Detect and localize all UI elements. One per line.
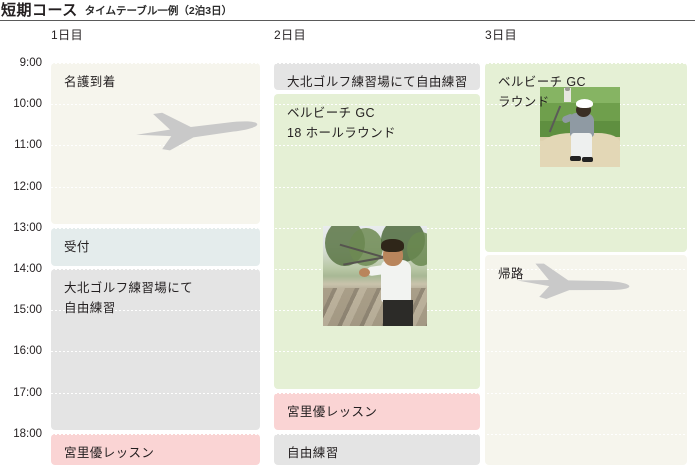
event-block[interactable]: 宮里優レッスン [274, 393, 480, 431]
day-header-2: 2日目 [274, 26, 306, 43]
day-header-3: 3日目 [485, 26, 517, 43]
golf-swing-photo [323, 226, 427, 326]
event-block[interactable]: ベルビーチ GC 18 ホールラウンド [274, 94, 480, 389]
event-block[interactable]: 受付 [51, 228, 260, 266]
event-block[interactable]: 大北ゴルフ練習場にて自由練習 [274, 63, 480, 90]
airplane-icon [513, 257, 633, 305]
day-header-1: 1日目 [51, 26, 83, 43]
event-block[interactable]: ベルビーチ GC ラウンド [485, 63, 687, 252]
event-label: 大北ゴルフ練習場にて自由練習 [287, 72, 468, 90]
day-column-1: 名護到着受付大北ゴルフ練習場にて 自由練習宮里優レッスン [51, 47, 260, 451]
event-label: 帰路 [498, 264, 524, 284]
event-block[interactable]: 帰路 [485, 255, 687, 464]
event-block[interactable]: 大北ゴルフ練習場にて 自由練習 [51, 269, 260, 430]
event-label: 宮里優レッスン [64, 443, 154, 463]
event-label: 自由練習 [287, 443, 339, 463]
event-block[interactable]: 宮里優レッスン [51, 434, 260, 465]
event-label: 受付 [64, 237, 90, 257]
page-subtitle: タイムテーブル一例（2泊3日） [85, 4, 232, 19]
day-column-3: ベルビーチ GC ラウンド帰路 [485, 47, 687, 451]
event-label: 名護到着 [64, 72, 116, 92]
event-label: ベルビーチ GC 18 ホールラウンド [287, 103, 396, 143]
event-block[interactable]: 名護到着 [51, 63, 260, 224]
page-title: 短期コース [1, 2, 78, 19]
day-column-2: 大北ゴルフ練習場にて自由練習ベルビーチ GC 18 ホールラウンド宮里優レッスン… [274, 47, 480, 451]
airplane-icon [131, 101, 260, 153]
event-block[interactable]: 自由練習 [274, 434, 480, 465]
page-header: 短期コース タイムテーブル一例（2泊3日） [0, 0, 695, 21]
day-header-row: 1日目 2日目 3日目 [0, 21, 695, 47]
event-label: 大北ゴルフ練習場にて 自由練習 [64, 278, 193, 318]
event-label: 宮里優レッスン [287, 402, 377, 422]
event-label: ベルビーチ GC ラウンド [498, 72, 586, 112]
timetable: 1日目 2日目 3日目 9:0010:0011:0012:0013:0014:0… [0, 21, 695, 451]
day-columns: 名護到着受付大北ゴルフ練習場にて 自由練習宮里優レッスン 大北ゴルフ練習場にて自… [0, 47, 695, 451]
